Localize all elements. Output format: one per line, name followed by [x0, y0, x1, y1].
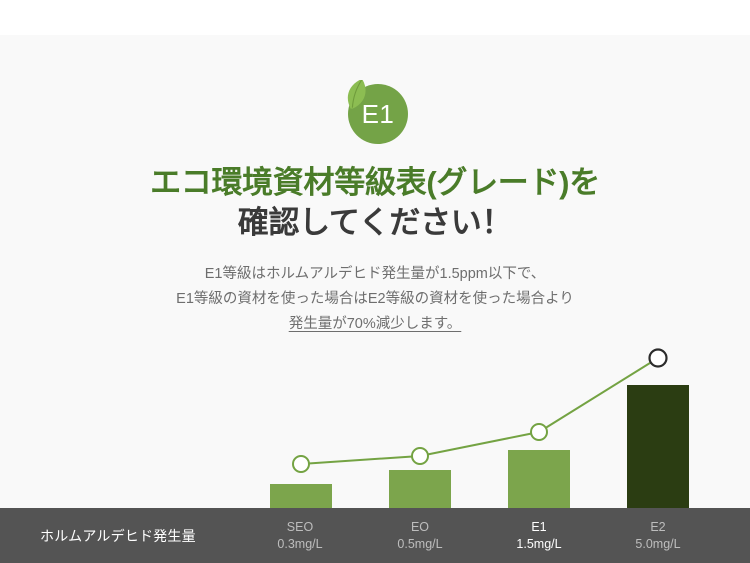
page-title: エコ環境資材等級表(グレード)を 確認してください！ — [0, 163, 750, 242]
trend-marker-e1 — [531, 424, 547, 440]
bar-eo — [389, 470, 451, 508]
badge-label: E1 — [348, 84, 408, 144]
legend-col-e2: E2 5.0mg/L — [598, 508, 718, 563]
legend-value-eo: 0.5mg/L — [397, 536, 442, 553]
badge-area: E1 — [0, 80, 750, 152]
legend-value-e1: 1.5mg/L — [516, 536, 561, 553]
legend-grade-eo: EO — [411, 519, 429, 536]
slide-root: E1 エコ環境資材等級表(グレード)を 確認してください！ E1等級はホルムアル… — [0, 0, 750, 563]
trend-marker-e2 — [650, 350, 667, 367]
legend-col-eo: EO 0.5mg/L — [360, 508, 480, 563]
trend-line — [301, 358, 658, 464]
legend-col-seo: SEO 0.3mg/L — [240, 508, 360, 563]
chart-legend-bar: ホルムアルデヒド発生量 SEO 0.3mg/L EO 0.5mg/L E1 1.… — [0, 508, 750, 563]
headline-line-2: 確認してください！ — [0, 203, 750, 243]
legend-grade-seo: SEO — [287, 519, 313, 536]
description-line-1: E1等級はホルムアルデヒド発生量が1.5ppm以下で、 — [0, 262, 750, 287]
bar-seo — [270, 484, 332, 508]
e1-badge: E1 — [342, 80, 408, 146]
chart-legend-title: ホルムアルデヒド発生量 — [40, 508, 196, 563]
legend-grade-e2: E2 — [650, 519, 665, 536]
trend-marker-eo — [412, 448, 428, 464]
legend-grade-e1: E1 — [531, 519, 546, 536]
bar-e1 — [508, 450, 570, 508]
headline-line-1: エコ環境資材等級表(グレード)を — [0, 163, 750, 203]
legend-col-e1: E1 1.5mg/L — [479, 508, 599, 563]
description-line-3-emphasis: 発生量が70%減少します。 — [0, 312, 750, 337]
chart-legend-columns: SEO 0.3mg/L EO 0.5mg/L E1 1.5mg/L E2 5.0… — [240, 508, 750, 563]
legend-value-e2: 5.0mg/L — [635, 536, 680, 553]
bar-e2 — [627, 385, 689, 508]
trend-marker-seo — [293, 456, 309, 472]
description-text: E1等級はホルムアルデヒド発生量が1.5ppm以下で、 E1等級の資材を使った場… — [0, 262, 750, 337]
formaldehyde-chart — [0, 340, 750, 510]
legend-value-seo: 0.3mg/L — [277, 536, 322, 553]
chart-canvas — [0, 340, 750, 510]
description-line-2: E1等級の資材を使った場合はE2等級の資材を使った場合より — [0, 287, 750, 312]
